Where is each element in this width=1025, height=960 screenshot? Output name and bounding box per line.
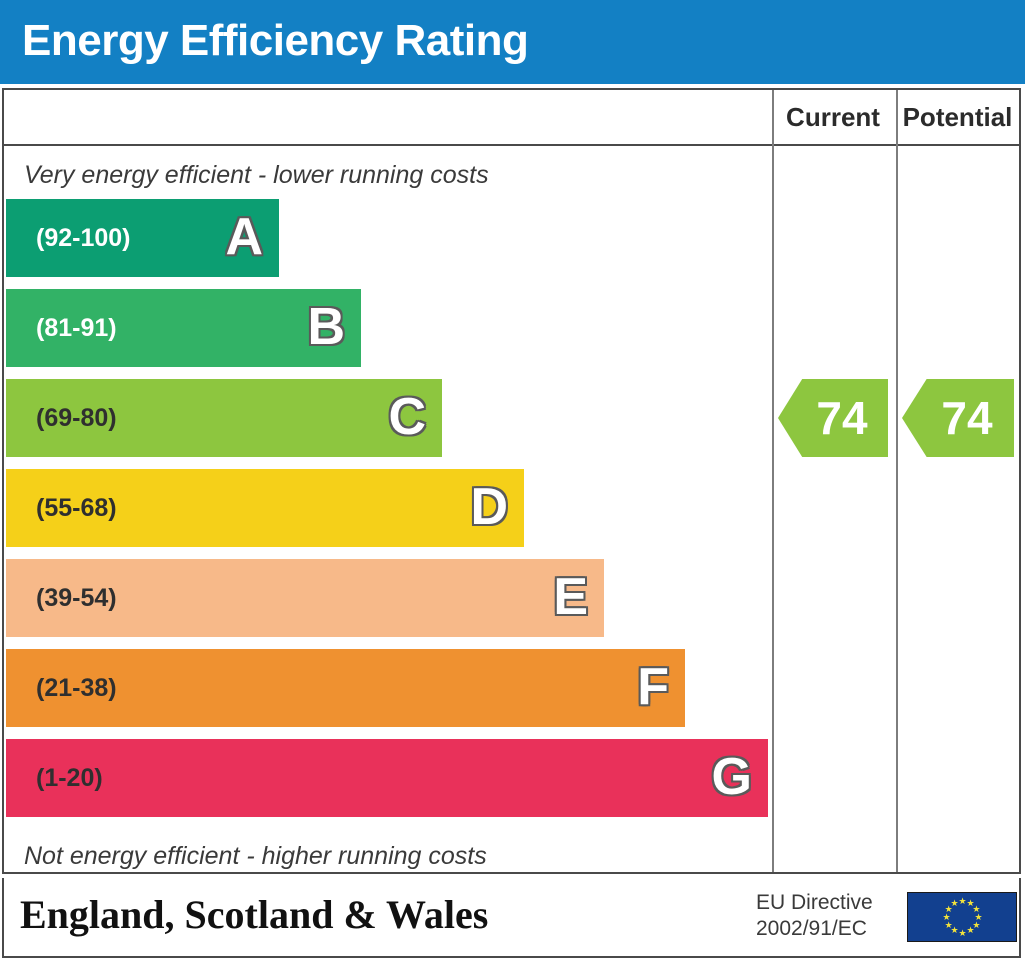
band-range-c: (69-80) xyxy=(36,379,117,457)
rating-arrow-current: 74 xyxy=(778,379,888,457)
band-range-f: (21-38) xyxy=(36,649,117,727)
column-divider-current xyxy=(772,90,774,872)
column-header-potential: Potential xyxy=(896,90,1019,144)
rating-band-g: (1-20)G xyxy=(6,739,768,817)
eu-flag-star: ★ xyxy=(967,927,974,934)
eu-flag-star: ★ xyxy=(959,898,966,905)
band-letter-g: G xyxy=(712,739,752,817)
rating-band-e: (39-54)E xyxy=(6,559,604,637)
eu-flag-star: ★ xyxy=(945,922,952,929)
column-header-row: Current Potential xyxy=(4,90,1019,146)
rating-band-f: (21-38)F xyxy=(6,649,685,727)
band-range-g: (1-20) xyxy=(36,739,103,817)
energy-efficiency-certificate: Energy Efficiency Rating Current Potenti… xyxy=(0,0,1025,960)
eu-flag-star: ★ xyxy=(943,914,950,921)
eu-flag-icon: ★★★★★★★★★★★★ xyxy=(907,892,1017,942)
caption-efficient: Very energy efficient - lower running co… xyxy=(24,161,489,190)
rating-table: Current Potential Very energy efficient … xyxy=(2,88,1021,874)
band-letter-b: B xyxy=(307,289,345,367)
eu-flag-star: ★ xyxy=(959,930,966,937)
column-header-current: Current xyxy=(772,90,894,144)
band-letter-d: D xyxy=(470,469,508,547)
region-label: England, Scotland & Wales xyxy=(20,888,488,942)
certificate-header: Energy Efficiency Rating xyxy=(0,0,1025,84)
band-letter-a: A xyxy=(225,199,263,277)
bands-area: Very energy efficient - lower running co… xyxy=(4,146,770,872)
band-range-a: (92-100) xyxy=(36,199,131,277)
eu-directive-line1: EU Directive xyxy=(756,890,901,916)
rating-band-d: (55-68)D xyxy=(6,469,524,547)
eu-directive-line2: 2002/91/EC xyxy=(756,916,901,942)
band-range-e: (39-54) xyxy=(36,559,117,637)
band-letter-c: C xyxy=(388,379,426,457)
band-range-d: (55-68) xyxy=(36,469,117,547)
caption-inefficient: Not energy efficient - higher running co… xyxy=(24,842,487,871)
band-letter-f: F xyxy=(637,649,669,727)
rating-band-c: (69-80)C xyxy=(6,379,442,457)
column-divider-potential xyxy=(896,90,898,872)
eu-directive-label: EU Directive 2002/91/EC xyxy=(756,890,901,942)
rating-value-current: 74 xyxy=(816,393,867,443)
eu-flag-star: ★ xyxy=(951,900,958,907)
page-title: Energy Efficiency Rating xyxy=(22,12,528,70)
rating-value-potential: 74 xyxy=(941,393,992,443)
certificate-footer: England, Scotland & Wales EU Directive 2… xyxy=(2,878,1021,958)
rating-band-b: (81-91)B xyxy=(6,289,361,367)
rating-band-a: (92-100)A xyxy=(6,199,279,277)
band-range-b: (81-91) xyxy=(36,289,117,367)
band-letter-e: E xyxy=(553,559,588,637)
rating-arrow-potential: 74 xyxy=(902,379,1014,457)
